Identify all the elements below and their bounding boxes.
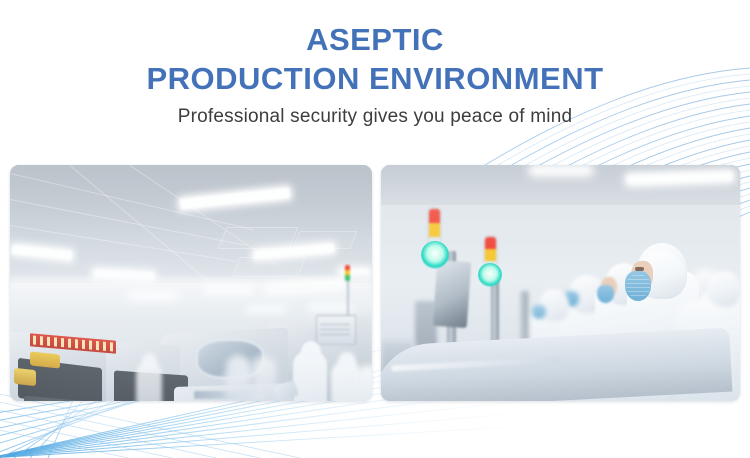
photo-cleanroom-workers[interactable]: [381, 165, 740, 401]
page-subtitle: Professional security gives you peace of…: [0, 106, 750, 128]
page-title-line-2: PRODUCTION ENVIRONMENT: [0, 63, 750, 94]
banner-stage: ASEPTIC PRODUCTION ENVIRONMENT Professio…: [0, 0, 750, 458]
photo-cleanroom-production-line[interactable]: [10, 165, 372, 401]
page-title-line-1: ASEPTIC: [0, 24, 750, 55]
banner-header: ASEPTIC PRODUCTION ENVIRONMENT Professio…: [0, 0, 750, 150]
